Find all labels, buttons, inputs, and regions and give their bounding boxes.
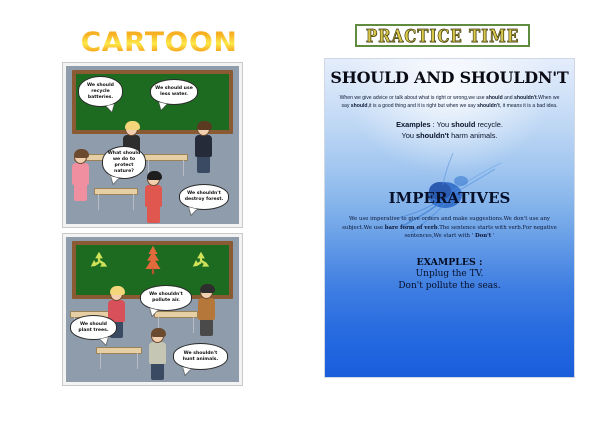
character-head: [110, 287, 123, 301]
text-fragment: , it means it is a bad idea.: [500, 103, 558, 109]
character-student-seated: [145, 172, 162, 223]
character-student-boy: [195, 122, 212, 173]
character-hair: [151, 328, 166, 337]
desk: [96, 347, 142, 354]
desk: [94, 188, 138, 195]
character-legs: [74, 185, 87, 201]
character-head: [151, 329, 164, 343]
speech-bubble: We shouldn't destroy forest.: [179, 184, 229, 210]
text-fragment: recycle.: [475, 120, 503, 129]
character-hair: [197, 121, 212, 130]
text-bold: should: [451, 120, 475, 129]
character-hair: [125, 121, 140, 130]
cartoon-time-title: CARTOON TIME: [39, 28, 278, 58]
cartoon-panel-2: We shouldn't pollute air. We should plan…: [62, 233, 243, 386]
character-hair: [110, 286, 125, 295]
speech-bubble: We should plant trees.: [70, 315, 117, 340]
character-student-cap: [198, 285, 215, 336]
cartoon-panel-1: We should recycle batteries. We should u…: [62, 62, 243, 228]
character-body: [145, 185, 162, 207]
character-teacher: [72, 150, 89, 201]
speech-bubble: We should use less water.: [150, 79, 198, 105]
poster-paragraph-imperatives: We use imperative to give orders and mak…: [341, 215, 558, 241]
poster-paragraph-should: When we give advice or talk about what i…: [339, 94, 560, 110]
character-hair: [200, 284, 215, 293]
character-legs: [147, 207, 160, 223]
character-head: [147, 172, 160, 186]
example-line: Examples : You should recycle.: [335, 119, 564, 130]
poster-example-line-2: Don't pollute the seas.: [325, 280, 574, 292]
character-legs: [200, 320, 213, 336]
character-legs: [197, 157, 210, 173]
poster-heading-imperatives: IMPERATIVES: [325, 189, 574, 207]
text-fragment: and: [503, 95, 514, 101]
text-bold: Examples: [396, 120, 431, 129]
practice-time-title: PRACTICE TIME: [366, 25, 519, 46]
character-head: [74, 150, 87, 164]
character-legs: [151, 364, 164, 380]
character-hair: [74, 149, 89, 158]
text-fragment: When we give advice or talk about what i…: [340, 95, 486, 101]
character-body: [149, 342, 166, 364]
character-head: [125, 122, 138, 136]
text-bold: shouldn't: [477, 103, 500, 109]
worksheet-page: CARTOON TIME: [0, 0, 600, 424]
text-bold: shouldn't: [416, 131, 449, 140]
practice-time-title-box: PRACTICE TIME: [355, 24, 530, 47]
speech-bubble: We should recycle batteries.: [78, 76, 123, 107]
speech-bubble: What should we do to protect nature?: [102, 146, 146, 179]
character-body: [72, 163, 89, 185]
text-bold: should: [351, 103, 368, 109]
text-bold: Don't: [475, 233, 491, 239]
character-body: [195, 135, 212, 157]
recycle-icon: [190, 250, 212, 270]
character-student-center: [149, 329, 166, 380]
speech-bubble: We shouldn't hunt animals.: [173, 343, 228, 370]
classroom-scene-1: We should recycle batteries. We should u…: [66, 66, 239, 224]
pine-tree-icon: [144, 245, 162, 275]
character-body: [198, 298, 215, 320]
text-fragment: You: [402, 131, 417, 140]
character-head: [200, 285, 213, 299]
poster-heading-should: SHOULD AND SHOULDN'T: [324, 68, 575, 87]
text-fragment: ,it is a good thing and it is right but …: [367, 103, 477, 109]
speech-bubble: We shouldn't pollute air.: [140, 285, 192, 311]
poster-examples-should: Examples : You should recycle. You shoul…: [335, 119, 564, 141]
text-bold: should: [486, 95, 503, 101]
text-fragment: ': [491, 233, 494, 239]
text-bold: bare form of verb: [385, 225, 438, 231]
text-bold: shouldn't: [514, 95, 537, 101]
recycle-icon: [88, 250, 110, 270]
character-head: [197, 122, 210, 136]
desk: [154, 311, 198, 318]
text-fragment: : You: [431, 120, 452, 129]
text-fragment: harm animals.: [449, 131, 497, 140]
poster-heading-examples: EXAMPLES :: [325, 257, 574, 268]
desk: [144, 154, 188, 161]
character-hair: [147, 171, 162, 180]
example-line: You shouldn't harm animals.: [335, 130, 564, 141]
grammar-poster: SHOULD AND SHOULDN'T When we give advice…: [324, 58, 575, 378]
poster-example-line-1: Unplug the TV.: [325, 268, 574, 280]
classroom-scene-2: We shouldn't pollute air. We should plan…: [66, 237, 239, 382]
